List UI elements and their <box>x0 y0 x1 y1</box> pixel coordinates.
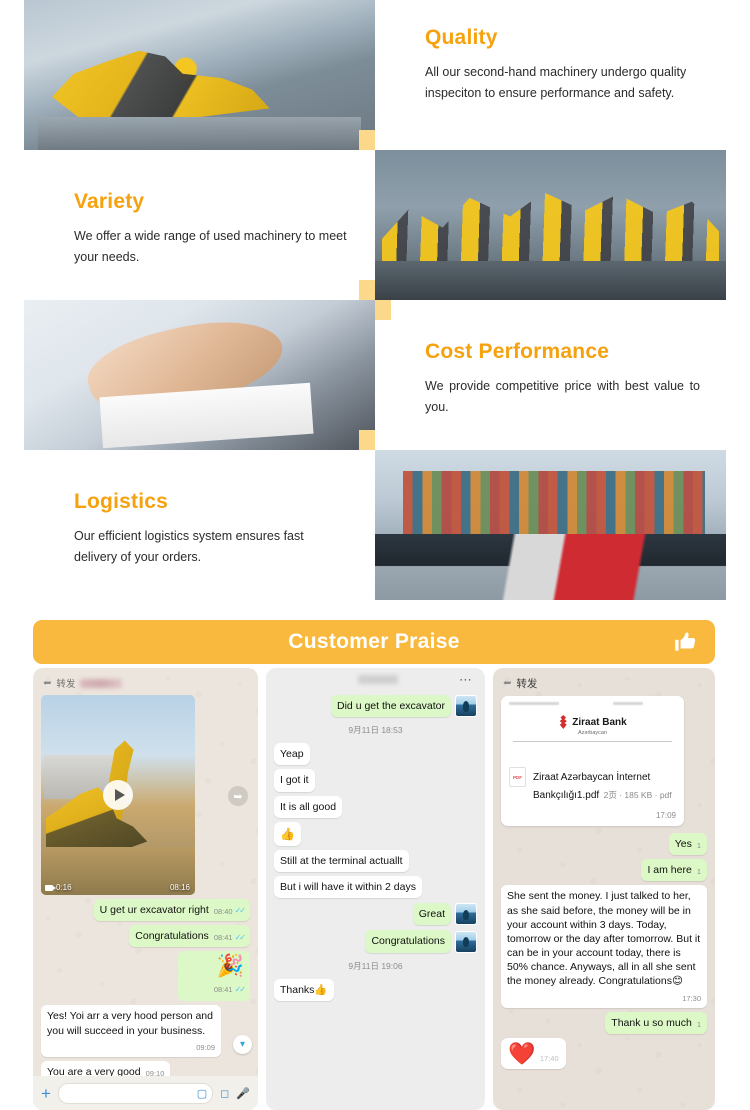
testimonial-chat-panel-3: ➥ 转发 Ziraat Bank Azərbaycan PDF <box>493 668 715 1110</box>
message-time: 17:30 <box>682 994 701 1004</box>
message-meta: 08:41 ✓✓ <box>214 933 244 944</box>
chat-header: ⋯ <box>274 672 477 690</box>
accent-square-2a <box>359 280 375 300</box>
testimonial-chat-panel-1: ➥ 转发 0:16 08:16 ➥ U get ur excavato <box>33 668 258 1110</box>
forward-arrow-icon: ➥ <box>503 678 511 689</box>
message-row: She sent the money. I just talked to her… <box>501 885 707 1007</box>
chat-bubble-incoming: Yes! Yoi arr a very hood person and you … <box>41 1005 221 1056</box>
forwarded-label-row: ➥ 转发 <box>41 674 250 695</box>
feature-title-logistics: Logistics <box>74 490 349 513</box>
chat-bubble-incoming: Thanks👍 <box>274 979 334 1001</box>
read-receipt-icon: ✓✓ <box>235 985 244 994</box>
pdf-document-message[interactable]: Ziraat Bank Azərbaycan PDF Ziraat Azərba… <box>501 696 684 826</box>
feature-body-variety: We offer a wide range of used machinery … <box>74 226 349 267</box>
message-row: But i will have it within 2 days <box>274 876 477 898</box>
message-text: I am here <box>647 863 691 877</box>
feature-body-cost-performance: We provide competitive price with best v… <box>425 376 700 417</box>
forward-message-button[interactable]: ➥ <box>228 786 248 806</box>
message-row: 👍 <box>274 822 477 846</box>
date-separator: 9月11日 19:06 <box>274 960 477 972</box>
read-receipt-icon: ✓✓ <box>235 906 244 917</box>
message-time: 09:09 <box>196 1043 215 1053</box>
message-time: 08:41 <box>214 985 233 994</box>
message-row: Thanks👍 <box>274 979 477 1001</box>
ziraat-bank-logo-icon <box>558 715 568 729</box>
message-row: 🎉 08:41 ✓✓ <box>41 951 250 1001</box>
message-row: It is all good <box>274 796 477 818</box>
feature-text-logistics: Logistics Our efficient logistics system… <box>74 490 349 567</box>
avatar <box>455 695 477 717</box>
redacted-contact-name <box>358 675 398 684</box>
message-text: Still at the terminal actuallt <box>280 854 403 868</box>
feature-text-variety: Variety We offer a wide range of used ma… <box>74 190 349 267</box>
chat-content-2: ⋯ Did u get the excavator 9月11日 18:53 Ye… <box>266 668 485 1001</box>
message-time: 17:40 <box>540 1054 559 1063</box>
thumbs-up-icon <box>673 629 699 655</box>
feature-title-variety: Variety <box>74 190 349 213</box>
accent-square-2b <box>375 300 391 320</box>
chat-bubble-outgoing: U get ur excavator right 08:40 ✓✓ <box>94 899 250 921</box>
message-time: 08:40 <box>214 907 233 917</box>
chat-bubble-outgoing: Thank u so much 1 <box>605 1012 707 1034</box>
more-options-icon[interactable]: ⋯ <box>459 676 473 684</box>
promo-page: Quality All our second-hand machinery un… <box>0 0 750 1110</box>
message-row: Congratulations <box>274 930 477 952</box>
chat-bubble-incoming: She sent the money. I just talked to her… <box>501 885 707 1007</box>
customer-praise-title: Customer Praise <box>288 630 459 654</box>
chat-bubble-outgoing: Did u get the excavator <box>331 695 451 717</box>
microphone-icon[interactable]: 🎤 <box>236 1087 250 1100</box>
chat-bubble-incoming: It is all good <box>274 796 342 818</box>
message-row: Great <box>274 903 477 925</box>
excavator-demolition-site-photo <box>24 0 375 150</box>
chat-bubble-emoji: 🎉 08:41 ✓✓ <box>178 951 250 1001</box>
pdf-file-icon: PDF <box>509 767 526 787</box>
message-text: Congratulations <box>135 929 209 943</box>
camera-icon[interactable]: ◻ <box>220 1087 229 1100</box>
message-time: 1 <box>697 1020 701 1030</box>
message-row: Thank u so much 1 <box>501 1012 707 1034</box>
chat-content-3: ➥ 转发 Ziraat Bank Azərbaycan PDF <box>493 668 715 1069</box>
forward-arrow-icon: ➥ <box>43 678 51 689</box>
accent-square-3a <box>359 430 375 450</box>
message-text: But i will have it within 2 days <box>280 880 416 894</box>
message-time: 1 <box>697 841 701 851</box>
feature-title-quality: Quality <box>425 26 700 49</box>
bank-subtitle: Azərbaycan <box>509 730 676 736</box>
pdf-meta-row: PDF Ziraat Azərbaycan İnternet Bankçılığ… <box>501 760 684 811</box>
avatar <box>455 931 477 953</box>
video-message[interactable]: 0:16 08:16 <box>41 695 195 895</box>
chat-bubble-outgoing: I am here 1 <box>641 859 707 881</box>
testimonial-chat-panel-2: ⋯ Did u get the excavator 9月11日 18:53 Ye… <box>266 668 485 1110</box>
message-time: 08:41 <box>214 933 233 943</box>
message-meta: 08:40 ✓✓ <box>214 906 244 917</box>
feature-body-logistics: Our efficient logistics system ensures f… <box>74 526 349 567</box>
message-meta: 08:41 ✓✓ <box>214 985 244 994</box>
video-duration: 0:16 <box>45 883 72 892</box>
message-text: It is all good <box>280 800 336 814</box>
message-text: Great <box>419 907 445 921</box>
play-icon[interactable] <box>103 780 133 810</box>
bank-logo-row: Ziraat Bank <box>509 715 676 729</box>
forward-label: 转发 <box>56 676 75 690</box>
chat-bubble-emoji: 👍 <box>274 822 301 846</box>
chat-bubble-emoji: ❤️ 17:40 <box>501 1038 566 1069</box>
video-timestamp: 08:16 <box>170 883 190 892</box>
message-text: I got it <box>280 773 309 787</box>
chat-bubble-outgoing: Great <box>413 903 451 925</box>
message-text: Yes! Yoi arr a very hood person and you … <box>47 1009 215 1037</box>
message-input[interactable]: ▢ <box>58 1083 213 1104</box>
chat-bubble-outgoing: Congratulations 08:41 ✓✓ <box>129 925 250 947</box>
accent-square-1a <box>359 130 375 150</box>
customer-praise-banner: Customer Praise <box>33 620 715 664</box>
message-row: Yes 1 <box>501 833 707 855</box>
plus-icon[interactable]: + <box>41 1085 51 1102</box>
message-text: Thank u so much <box>611 1016 692 1030</box>
feature-text-quality: Quality All our second-hand machinery un… <box>425 26 700 103</box>
message-text: Yeap <box>280 747 304 761</box>
feature-body-quality: All our second-hand machinery undergo qu… <box>425 62 700 103</box>
excavator-fleet-photo <box>375 150 726 300</box>
feature-title-cost-performance: Cost Performance <box>425 340 700 363</box>
bank-name: Ziraat Bank <box>572 717 626 728</box>
chat-bubble-outgoing: Congratulations <box>365 930 451 952</box>
red-heart-icon: ❤️ <box>508 1041 535 1066</box>
date-separator: 9月11日 18:53 <box>274 724 477 736</box>
message-text: She sent the money. I just talked to her… <box>507 889 701 988</box>
chat-bubble-incoming: I got it <box>274 769 315 791</box>
feature-image-quality <box>24 0 375 150</box>
divider <box>513 741 672 742</box>
message-row: I am here 1 <box>501 859 707 881</box>
container-ship-and-trucks-photo <box>375 450 726 600</box>
business-handshake-contract-photo <box>24 300 375 450</box>
feature-image-cost-performance <box>24 300 375 450</box>
message-row: U get ur excavator right 08:40 ✓✓ <box>41 899 250 921</box>
message-row: Still at the terminal actuallt <box>274 850 477 872</box>
message-text: Did u get the excavator <box>337 699 445 713</box>
message-text: Congratulations <box>371 934 445 948</box>
message-text: U get ur excavator right <box>100 903 209 917</box>
message-time: 17:09 <box>501 811 684 826</box>
message-row: Yes! Yoi arr a very hood person and you … <box>41 1005 250 1056</box>
message-row: Did u get the excavator <box>274 695 477 717</box>
read-receipt-icon: ✓✓ <box>235 933 244 944</box>
message-composer: + ▢ ◻ 🎤 <box>33 1076 258 1110</box>
video-camera-icon <box>45 885 53 891</box>
pdf-preview: Ziraat Bank Azərbaycan <box>501 696 684 760</box>
chat-bubble-incoming: Yeap <box>274 743 310 765</box>
chevron-down-icon[interactable]: ▾ <box>233 1035 252 1054</box>
message-row: Congratulations 08:41 ✓✓ <box>41 925 250 947</box>
feature-image-variety <box>375 150 726 300</box>
feature-text-cost-performance: Cost Performance We provide competitive … <box>425 340 700 417</box>
avatar <box>455 903 477 925</box>
message-row: Yeap <box>274 743 477 765</box>
message-row: ❤️ 17:40 <box>501 1038 707 1069</box>
party-popper-icon: 🎉 <box>184 955 244 977</box>
video-duration-label: 0:16 <box>56 883 72 892</box>
redacted-contact-name <box>80 679 122 688</box>
message-row: I got it <box>274 769 477 791</box>
feature-image-logistics <box>375 450 726 600</box>
sticker-icon[interactable]: ▢ <box>197 1087 207 1100</box>
forward-label: 转发 <box>516 676 537 691</box>
chat-content-1: ➥ 转发 0:16 08:16 ➥ U get ur excavato <box>33 668 258 1083</box>
chat-bubble-outgoing: Yes 1 <box>669 833 707 855</box>
message-time: 1 <box>697 867 701 877</box>
chat-bubble-incoming: Still at the terminal actuallt <box>274 850 409 872</box>
forwarded-label-row: ➥ 转发 <box>501 674 707 696</box>
pdf-file-meta: 2页 · 185 KB · pdf <box>604 790 672 800</box>
message-text: Thanks👍 <box>280 983 328 997</box>
message-text: Yes <box>675 837 692 851</box>
thumbs-up-icon: 👍 <box>280 826 295 842</box>
chat-bubble-incoming: But i will have it within 2 days <box>274 876 422 898</box>
